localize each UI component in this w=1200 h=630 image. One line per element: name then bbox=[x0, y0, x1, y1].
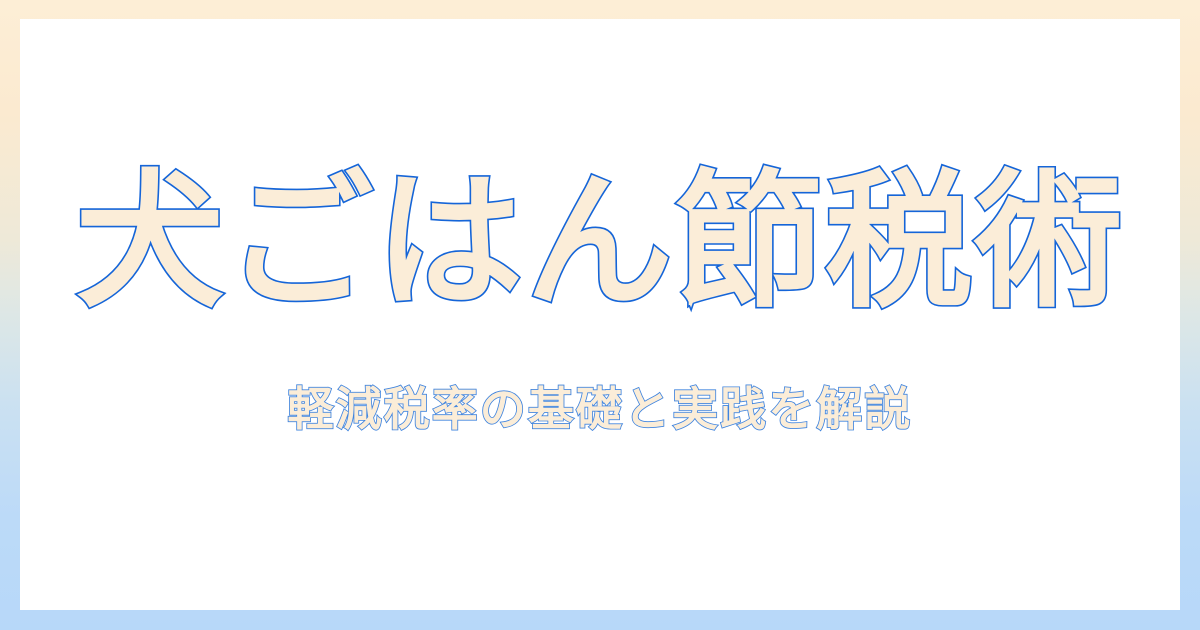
page-subtitle: 軽減税率の基礎と実践を解説 bbox=[288, 382, 913, 437]
page-title: 犬ごはん節税術 bbox=[76, 167, 1124, 324]
card-content: 犬ごはん節税術 軽減税率の基礎と実践を解説 bbox=[20, 19, 1180, 610]
og-banner-card: 犬ごはん節税術 軽減税率の基礎と実践を解説 bbox=[0, 0, 1200, 630]
